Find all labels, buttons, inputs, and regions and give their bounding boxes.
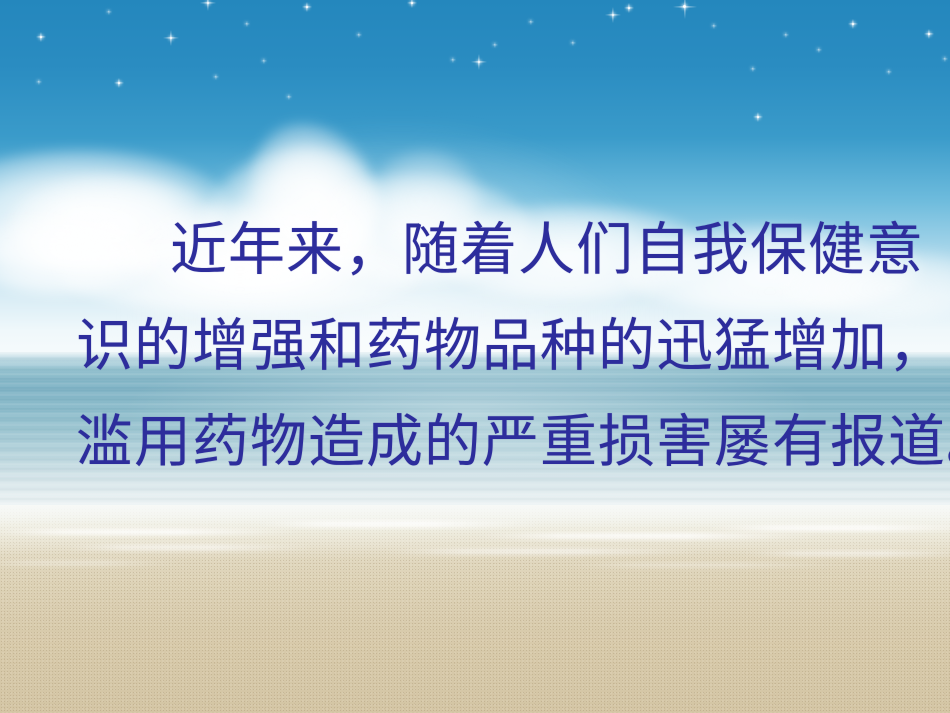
slide-canvas: 近年来，随着人们自我保健意 识的增强和药物品种的迅猛增加， 滥用药物造成的严重损… (0, 0, 950, 713)
slide-text-block: 近年来，随着人们自我保健意 识的增强和药物品种的迅猛增加， 滥用药物造成的严重损… (0, 0, 950, 713)
body-text-line-2: 识的增强和药物品种的迅猛增加， (76, 318, 946, 375)
body-text-line-3: 滥用药物造成的严重损害屡有报道。 (76, 414, 950, 471)
body-text-line-1: 近年来，随着人们自我保健意 (170, 222, 924, 279)
